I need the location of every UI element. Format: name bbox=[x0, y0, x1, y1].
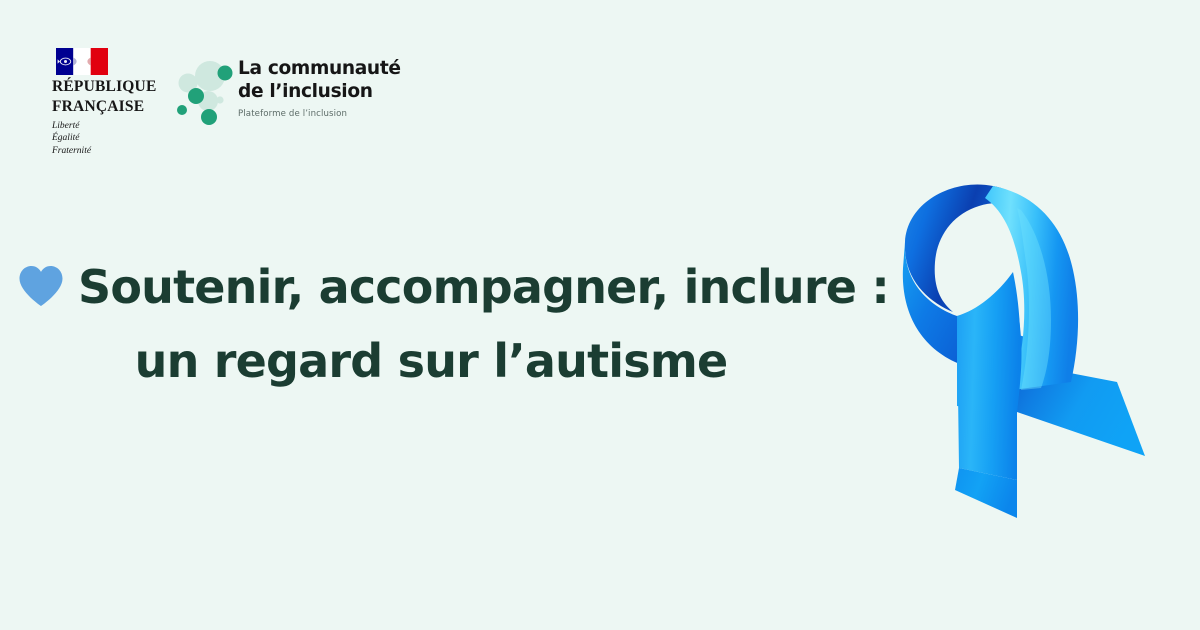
republique-francaise-logo: RÉPUBLIQUE FRANÇAISE Liberté Égalité Fra… bbox=[52, 48, 172, 157]
communaute-inclusion-logo: La communauté de l’inclusion Plateforme … bbox=[176, 56, 406, 132]
blue-heart-icon bbox=[18, 256, 64, 326]
headline-line-1: Soutenir, accompagner, inclure : bbox=[0, 252, 862, 326]
republique-line-1: RÉPUBLIQUE bbox=[52, 79, 172, 95]
header: RÉPUBLIQUE FRANÇAISE Liberté Égalité Fra… bbox=[0, 0, 1200, 160]
inclusion-wordmark: La communauté de l’inclusion Plateforme … bbox=[238, 58, 408, 119]
motto-fraternite: Fraternité bbox=[52, 145, 172, 158]
inclusion-dots-icon bbox=[176, 56, 238, 128]
motto-egalite: Égalité bbox=[52, 132, 172, 145]
hero-headline: Soutenir, accompagner, inclure : un rega… bbox=[0, 252, 862, 396]
inclusion-title-line-2: de l’inclusion bbox=[238, 81, 408, 104]
ribbon-stem-front bbox=[957, 272, 1020, 480]
republique-line-2: FRANÇAISE bbox=[52, 99, 172, 115]
republique-motto: Liberté Égalité Fraternité bbox=[52, 120, 172, 158]
french-flag-marianne-icon bbox=[56, 48, 108, 75]
page-canvas: RÉPUBLIQUE FRANÇAISE Liberté Égalité Fra… bbox=[0, 0, 1200, 630]
motto-liberte: Liberté bbox=[52, 120, 172, 133]
inclusion-subtitle: Plateforme de l’inclusion bbox=[238, 109, 408, 119]
headline-line-2: un regard sur l’autisme bbox=[0, 326, 862, 396]
autism-awareness-ribbon-illustration bbox=[845, 150, 1175, 540]
inclusion-title-line-1: La communauté bbox=[238, 58, 408, 81]
headline-text-1: Soutenir, accompagner, inclure : bbox=[78, 260, 889, 314]
